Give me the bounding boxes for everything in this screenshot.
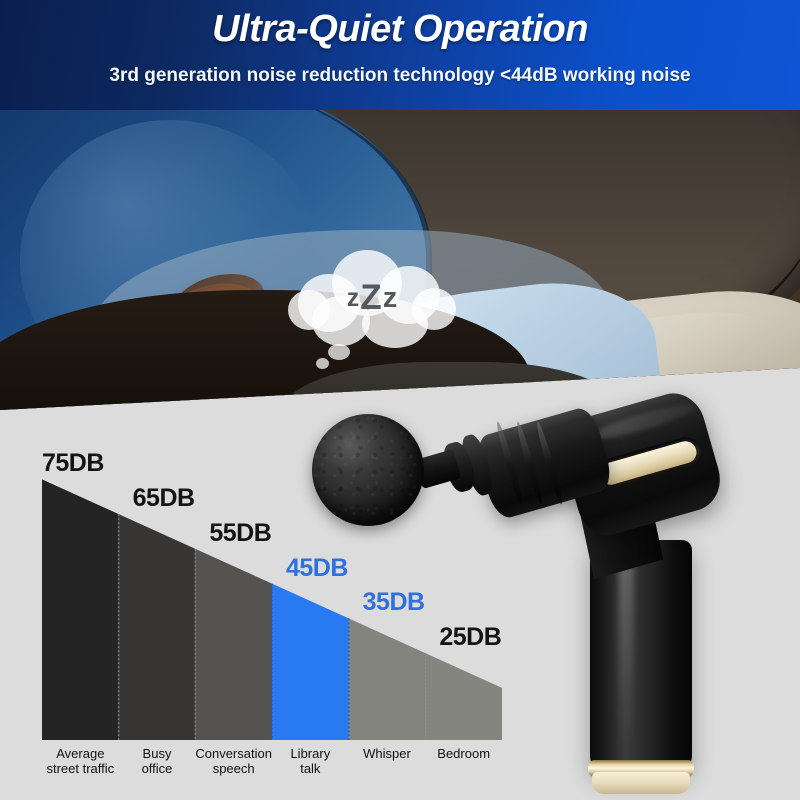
db-value-label: 65DB	[133, 484, 195, 513]
product-infographic: Ultra-Quiet Operation 3rd generation noi…	[0, 0, 800, 800]
zzz-z-medium: z	[383, 282, 398, 315]
db-value-label: 75DB	[42, 449, 104, 478]
zzz-z-large: Z	[360, 278, 381, 318]
gun-ball-texture	[312, 414, 424, 526]
chart-bar	[195, 549, 272, 740]
db-value-label: 55DB	[209, 519, 271, 548]
baby-sleeping-photo: zZz	[0, 110, 800, 410]
massage-gun-product	[300, 402, 720, 800]
sleep-cloud-icon: zZz	[282, 244, 462, 352]
header-banner: Ultra-Quiet Operation 3rd generation noi…	[0, 0, 800, 110]
chart-bar	[42, 479, 119, 740]
gun-base-cap	[592, 772, 690, 794]
gun-handle-highlight	[618, 552, 634, 752]
page-title: Ultra-Quiet Operation	[0, 10, 800, 50]
category-label-line: Busy	[143, 746, 172, 761]
zzz-text: zZz	[282, 244, 462, 352]
category-label-line: office	[142, 761, 173, 776]
zzz-z-small: z	[347, 284, 360, 313]
chart-bar	[119, 514, 196, 740]
category-label-line: speech	[213, 761, 255, 776]
header-subtitle: 3rd generation noise reduction technolog…	[0, 66, 800, 87]
